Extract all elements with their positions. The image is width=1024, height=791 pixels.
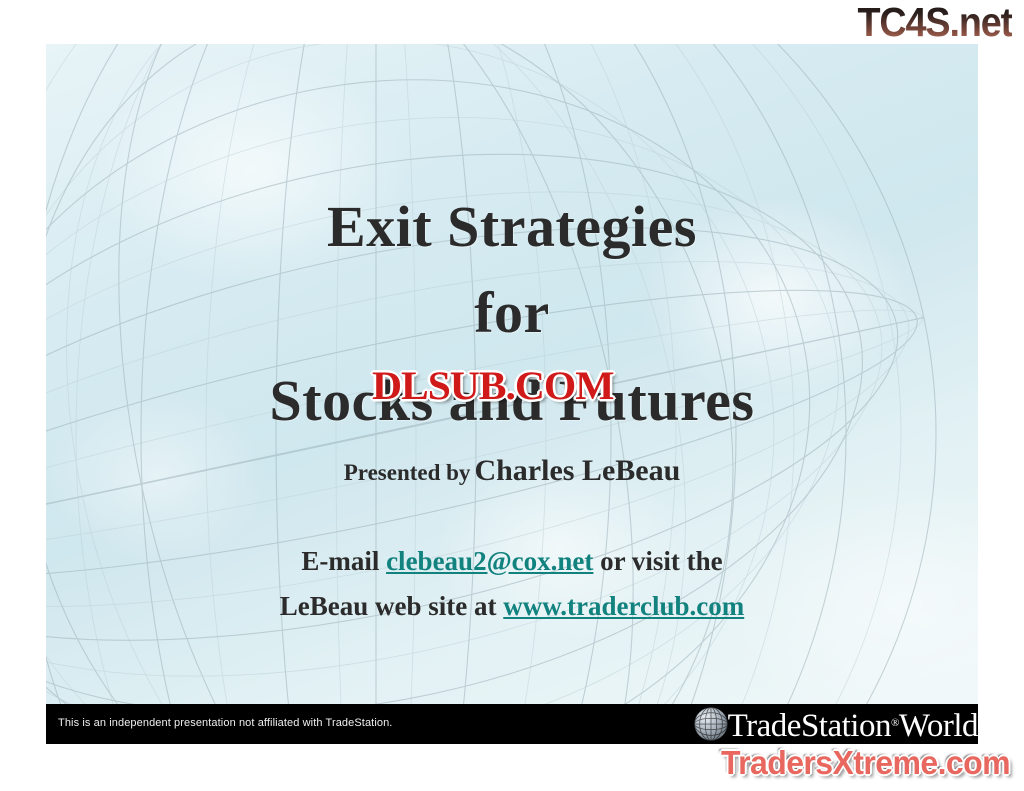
watermark-tradersxtreme: TradersXtreme.com [721,744,1010,782]
presenter-line: Presented by Charles LeBeau [46,454,978,488]
email-label: E-mail [301,546,386,576]
registered-trademark-symbol: ® [891,717,899,729]
tradestationworld-logo: TradeStation®World [690,702,978,744]
disclaimer-text: This is an independent presentation not … [58,717,392,729]
contact-email-line: E-mail clebeau2@cox.net or visit the [46,546,978,577]
wordmark-text: TradeStation®World [728,708,978,744]
presenter-prefix: Presented by [344,460,471,485]
globe-icon [690,703,732,744]
page-title-line-2: for [46,282,978,344]
tradestationworld-wordmark: TradeStation®World [728,703,978,745]
presenter-name: Charles LeBeau [474,454,680,487]
website-link[interactable]: www.traderclub.com [503,591,744,621]
contact-website-line: LeBeau web site at www.traderclub.com [46,591,978,622]
page-title-line-1: Exit Strategies [46,196,978,258]
email-suffix: or visit the [593,546,722,576]
footer-band: This is an independent presentation not … [46,704,978,744]
watermark-dlsub: DLSUB.COM [372,362,613,409]
email-link[interactable]: clebeau2@cox.net [386,546,593,576]
website-label: LeBeau web site at [280,591,503,621]
watermark-tc4s: TC4S.net [857,0,1012,44]
